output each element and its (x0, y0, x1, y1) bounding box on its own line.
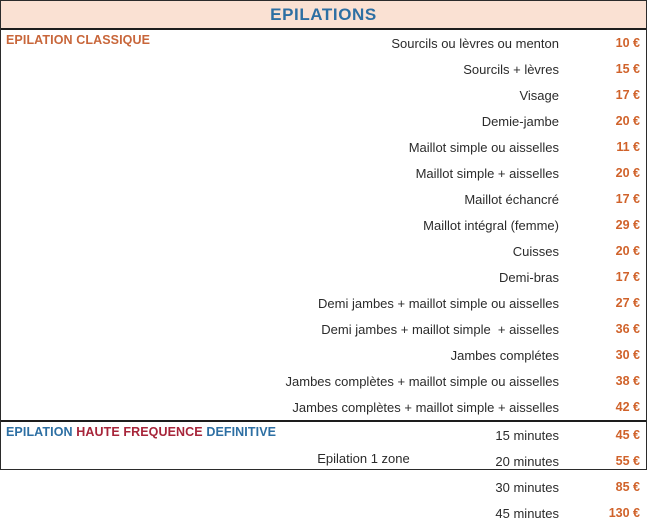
service-name: Visage (1, 88, 566, 103)
page-title-band: EPILATIONS (1, 1, 646, 30)
service-price: 15 € (566, 62, 646, 76)
service-price: 17 € (566, 270, 646, 284)
service-price: 130 € (566, 506, 646, 520)
service-price: 29 € (566, 218, 646, 232)
service-name: Sourcils + lèvres (1, 62, 566, 77)
section-epilation-classique: EPILATION CLASSIQUE Sourcils ou lèvres o… (1, 30, 646, 420)
section-title-part-haute-frequence: HAUTE FREQUENCE (76, 425, 206, 439)
service-name: Demi jambes + maillot simple ou aisselle… (1, 296, 566, 311)
table-row: Demi jambes + maillot simple + aisselles… (1, 316, 646, 342)
duration-label: 45 minutes (1, 506, 566, 521)
table-row: Jambes complètes + maillot simple ou ais… (1, 368, 646, 394)
service-price: 36 € (566, 322, 646, 336)
service-name: Maillot intégral (femme) (1, 218, 566, 233)
table-row: Demi-bras 17 € (1, 264, 646, 290)
page-title: EPILATIONS (270, 5, 377, 25)
service-price: 11 € (566, 140, 646, 154)
table-row: Maillot intégral (femme) 29 € (1, 212, 646, 238)
service-price: 27 € (566, 296, 646, 310)
table-row: Demi jambes + maillot simple ou aisselle… (1, 290, 646, 316)
table-row: Jambes complètes + maillot simple + aiss… (1, 394, 646, 420)
service-price: 55 € (566, 454, 646, 468)
service-name: Cuisses (1, 244, 566, 259)
service-price: 20 € (566, 244, 646, 258)
service-price: 30 € (566, 348, 646, 362)
service-price: 38 € (566, 374, 646, 388)
price-row-group-classique: Sourcils ou lèvres ou menton 10 € Sourci… (1, 30, 646, 420)
table-row: Demie-jambe 20 € (1, 108, 646, 134)
zone-caption: Epilation 1 zone (291, 451, 436, 466)
table-row: Jambes complétes 30 € (1, 342, 646, 368)
section-title-epilation-haute-frequence: EPILATION HAUTE FREQUENCE DEFINITIVE (6, 425, 276, 439)
service-name: Maillot simple + aisselles (1, 166, 566, 181)
service-name: Demi jambes + maillot simple + aisselles (1, 322, 566, 337)
table-row: 45 minutes 130 € (1, 500, 646, 526)
service-name: Jambes complètes + maillot simple + aiss… (1, 400, 566, 415)
duration-label: 20 minutes (1, 454, 566, 469)
table-row: Maillot simple ou aisselles 11 € (1, 134, 646, 160)
section-epilation-haute-frequence: EPILATION HAUTE FREQUENCE DEFINITIVE Epi… (1, 420, 646, 526)
service-price: 20 € (566, 166, 646, 180)
table-row: 30 minutes 85 € (1, 474, 646, 500)
service-price: 17 € (566, 192, 646, 206)
section-title-epilation-classique: EPILATION CLASSIQUE (6, 33, 150, 47)
table-row: Maillot simple + aisselles 20 € (1, 160, 646, 186)
service-name: Maillot simple ou aisselles (1, 140, 566, 155)
table-row: Cuisses 20 € (1, 238, 646, 264)
table-row: Maillot échancré 17 € (1, 186, 646, 212)
service-name: Demi-bras (1, 270, 566, 285)
service-price: 20 € (566, 114, 646, 128)
section-title-part-definitive: DEFINITIVE (206, 425, 276, 439)
service-price: 17 € (566, 88, 646, 102)
table-row: Sourcils + lèvres 15 € (1, 56, 646, 82)
service-price: 85 € (566, 480, 646, 494)
service-price: 42 € (566, 400, 646, 414)
service-name: Demie-jambe (1, 114, 566, 129)
table-row: Visage 17 € (1, 82, 646, 108)
service-name: Maillot échancré (1, 192, 566, 207)
duration-label: 30 minutes (1, 480, 566, 495)
service-price: 10 € (566, 36, 646, 50)
service-price: 45 € (566, 428, 646, 442)
section-title-part-epilation: EPILATION (6, 425, 76, 439)
service-name: Jambes complètes + maillot simple ou ais… (1, 374, 566, 389)
price-list-sheet: EPILATIONS EPILATION CLASSIQUE Sourcils … (0, 0, 647, 470)
service-name: Jambes complétes (1, 348, 566, 363)
